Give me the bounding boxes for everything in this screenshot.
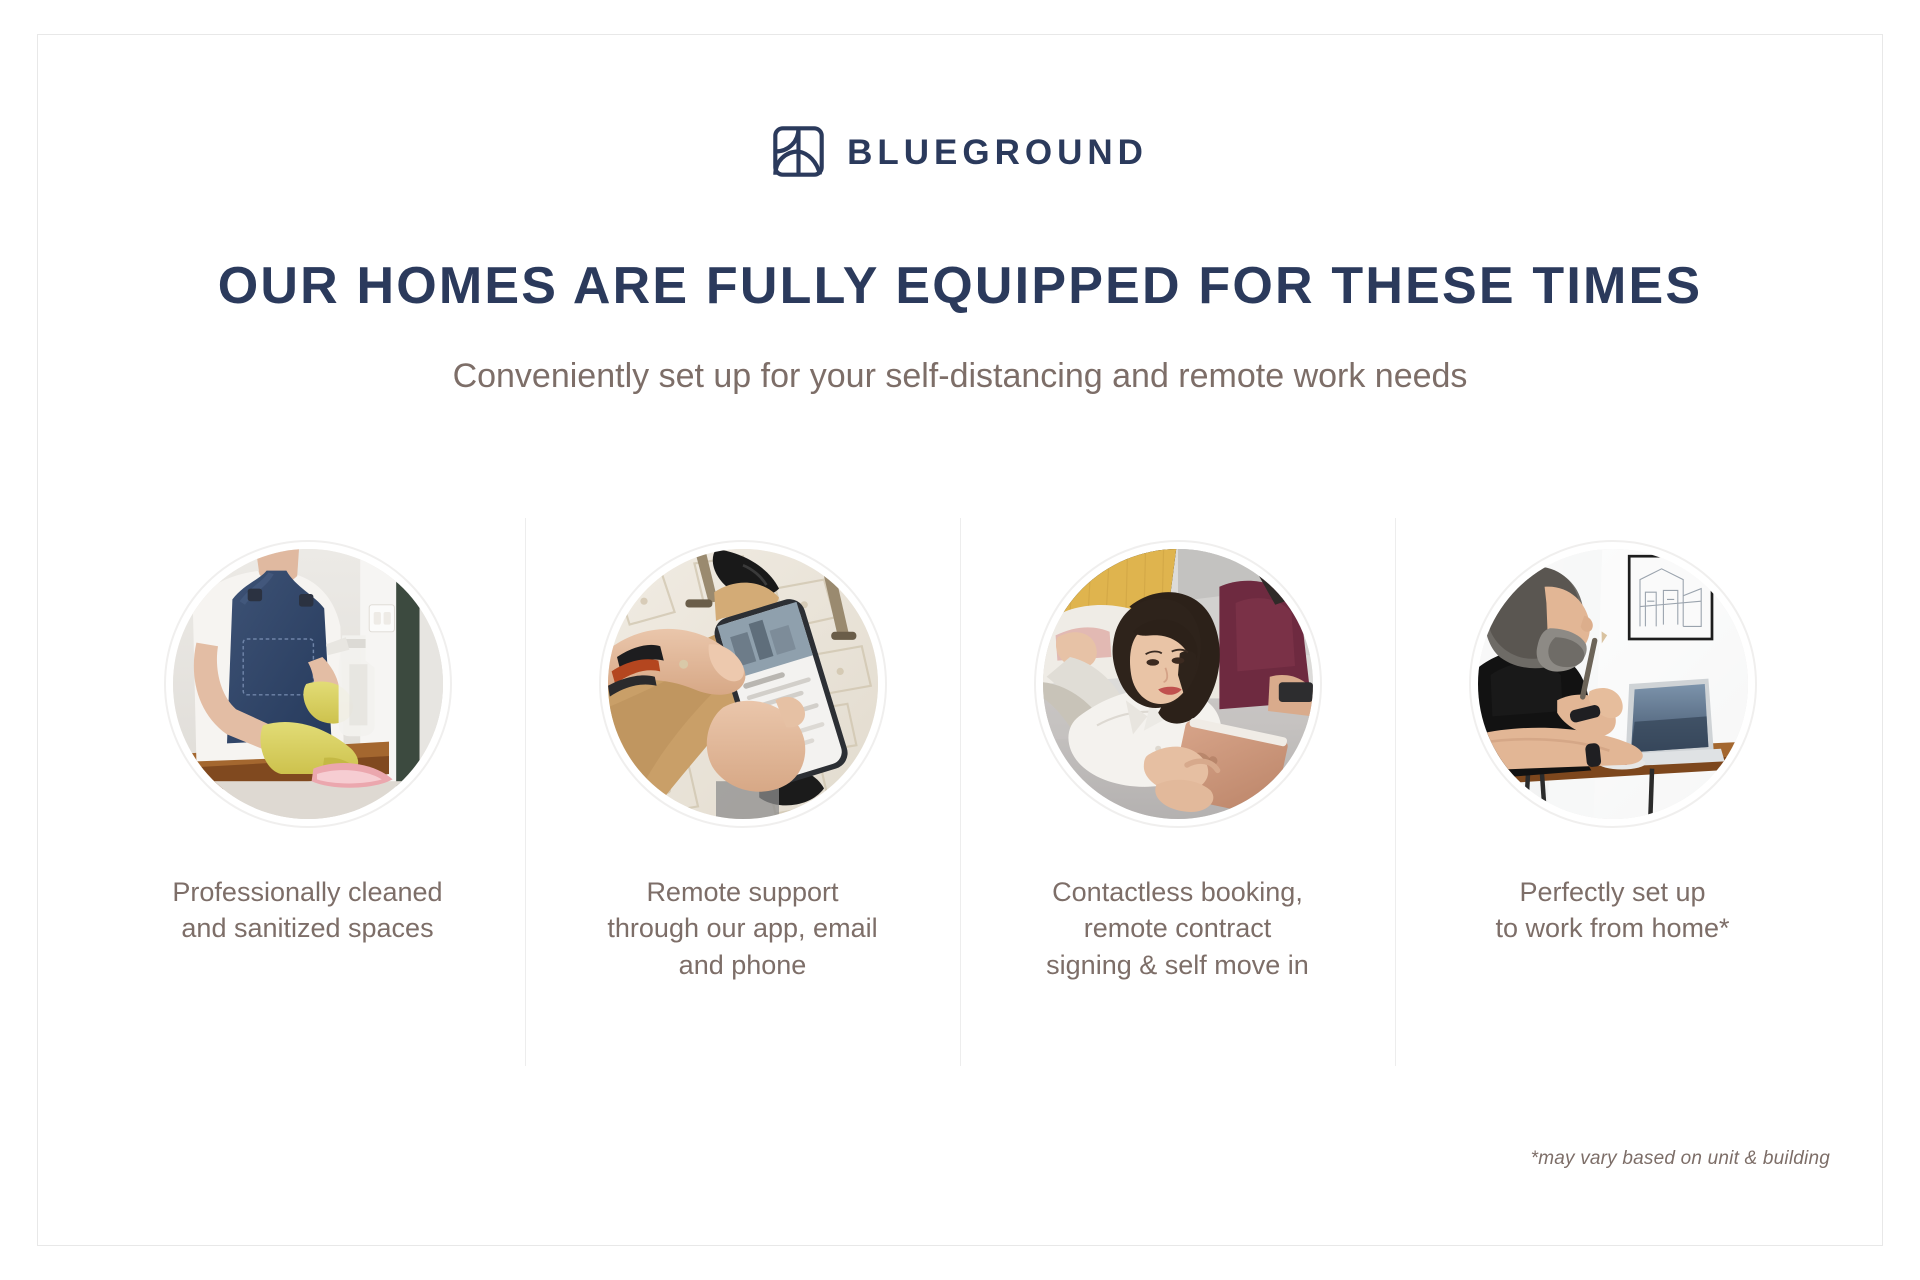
feature-photo-contactless-booking [1034,540,1322,828]
feature-column-remote-support: Remote support through our app, email an… [525,518,960,1066]
feature-photo-remote-support [599,540,887,828]
page-title: OUR HOMES ARE FULLY EQUIPPED FOR THESE T… [0,258,1920,315]
feature-caption: Remote support through our app, email an… [525,874,960,983]
feature-column-cleaning: Professionally cleaned and sanitized spa… [90,518,525,1066]
woman-with-tablet-photo-illustration [1043,549,1313,819]
feature-columns: Professionally cleaned and sanitized spa… [90,518,1830,1066]
feature-column-work-from-home: Perfectly set up to work from home* [1395,518,1830,1066]
poster-canvas: BLUEGROUND OUR HOMES ARE FULLY EQUIPPED … [0,0,1920,1280]
feature-photo-work-from-home [1469,540,1757,828]
cleaning-photo-illustration [173,549,443,819]
feature-photo-cleaning [164,540,452,828]
man-at-desk-photo-illustration [1478,549,1748,819]
feature-column-contactless-booking: Contactless booking, remote contract sig… [960,518,1395,1066]
brand-logo[interactable]: BLUEGROUND [0,125,1920,178]
feature-caption: Professionally cleaned and sanitized spa… [90,874,525,947]
footnote-disclaimer: *may vary based on unit & building [1531,1148,1830,1170]
blueground-square-mark-icon [772,125,825,178]
feature-caption: Contactless booking, remote contract sig… [960,874,1395,983]
feature-caption: Perfectly set up to work from home* [1395,874,1830,947]
page-subtitle: Conveniently set up for your self-distan… [0,355,1920,398]
phone-in-hands-photo-illustration [608,549,878,819]
brand-wordmark: BLUEGROUND [847,133,1148,170]
